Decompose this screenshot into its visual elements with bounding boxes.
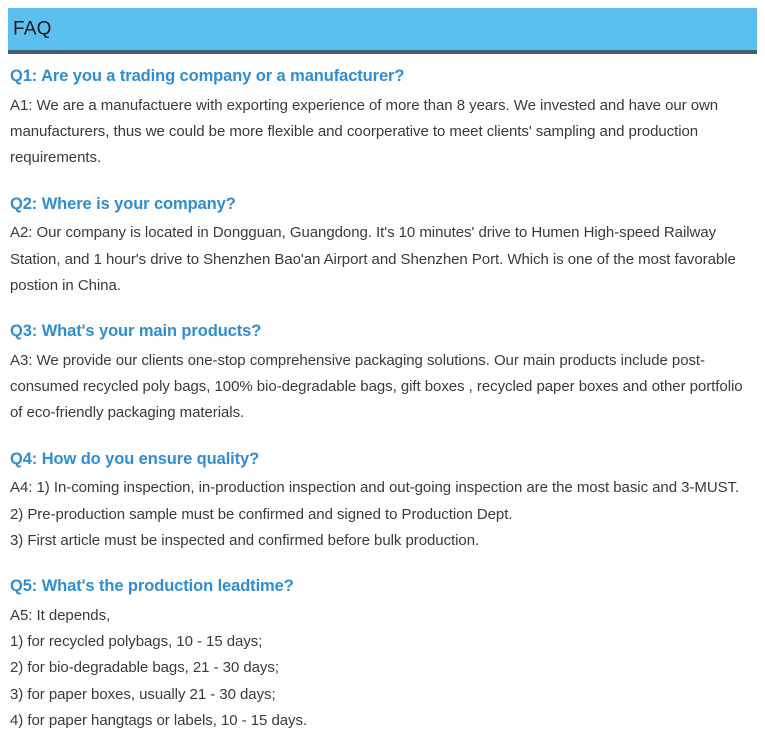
faq-answer-line: A1: We are a manufactuere with exporting… (10, 93, 755, 172)
faq-item: Q1: Are you a trading company or a manuf… (10, 66, 755, 172)
faq-question: Q3: What's your main products? (10, 321, 755, 343)
faq-answer-line: 3) for paper boxes, usually 21 - 30 days… (10, 682, 755, 708)
faq-answer-line: 1) for recycled polybags, 10 - 15 days; (10, 629, 755, 655)
faq-answer-line: A2: Our company is located in Dongguan, … (10, 220, 755, 299)
faq-list: Q1: Are you a trading company or a manuf… (10, 66, 755, 734)
faq-answer-line: A4: 1) In-coming inspection, in-producti… (10, 475, 755, 501)
faq-item: Q2: Where is your company?A2: Our compan… (10, 194, 755, 300)
faq-question: Q4: How do you ensure quality? (10, 449, 755, 471)
faq-page: FAQ Q1: Are you a trading company or a m… (0, 0, 765, 748)
faq-answer-line: A5: It depends, (10, 603, 755, 629)
faq-answer-line: 2) Pre-production sample must be confirm… (10, 502, 755, 528)
faq-answer-line: 2) for bio-degradable bags, 21 - 30 days… (10, 655, 755, 681)
faq-item: Q4: How do you ensure quality?A4: 1) In-… (10, 449, 755, 555)
faq-banner: FAQ (8, 8, 757, 54)
faq-answer-line: A3: We provide our clients one-stop comp… (10, 348, 755, 427)
faq-answer: A4: 1) In-coming inspection, in-producti… (10, 475, 755, 554)
faq-answer-line: 4) for paper hangtags or labels, 10 - 15… (10, 708, 755, 734)
faq-item: Q3: What's your main products?A3: We pro… (10, 321, 755, 427)
faq-answer: A2: Our company is located in Dongguan, … (10, 220, 755, 299)
faq-answer: A3: We provide our clients one-stop comp… (10, 348, 755, 427)
faq-item: Q5: What's the production leadtime?A5: I… (10, 576, 755, 734)
faq-answer-line: 3) First article must be inspected and c… (10, 528, 755, 554)
faq-answer: A5: It depends,1) for recycled polybags,… (10, 603, 755, 734)
faq-answer: A1: We are a manufactuere with exporting… (10, 93, 755, 172)
faq-question: Q1: Are you a trading company or a manuf… (10, 66, 755, 88)
faq-question: Q5: What's the production leadtime? (10, 576, 755, 598)
faq-banner-title: FAQ (13, 20, 52, 39)
faq-question: Q2: Where is your company? (10, 194, 755, 216)
